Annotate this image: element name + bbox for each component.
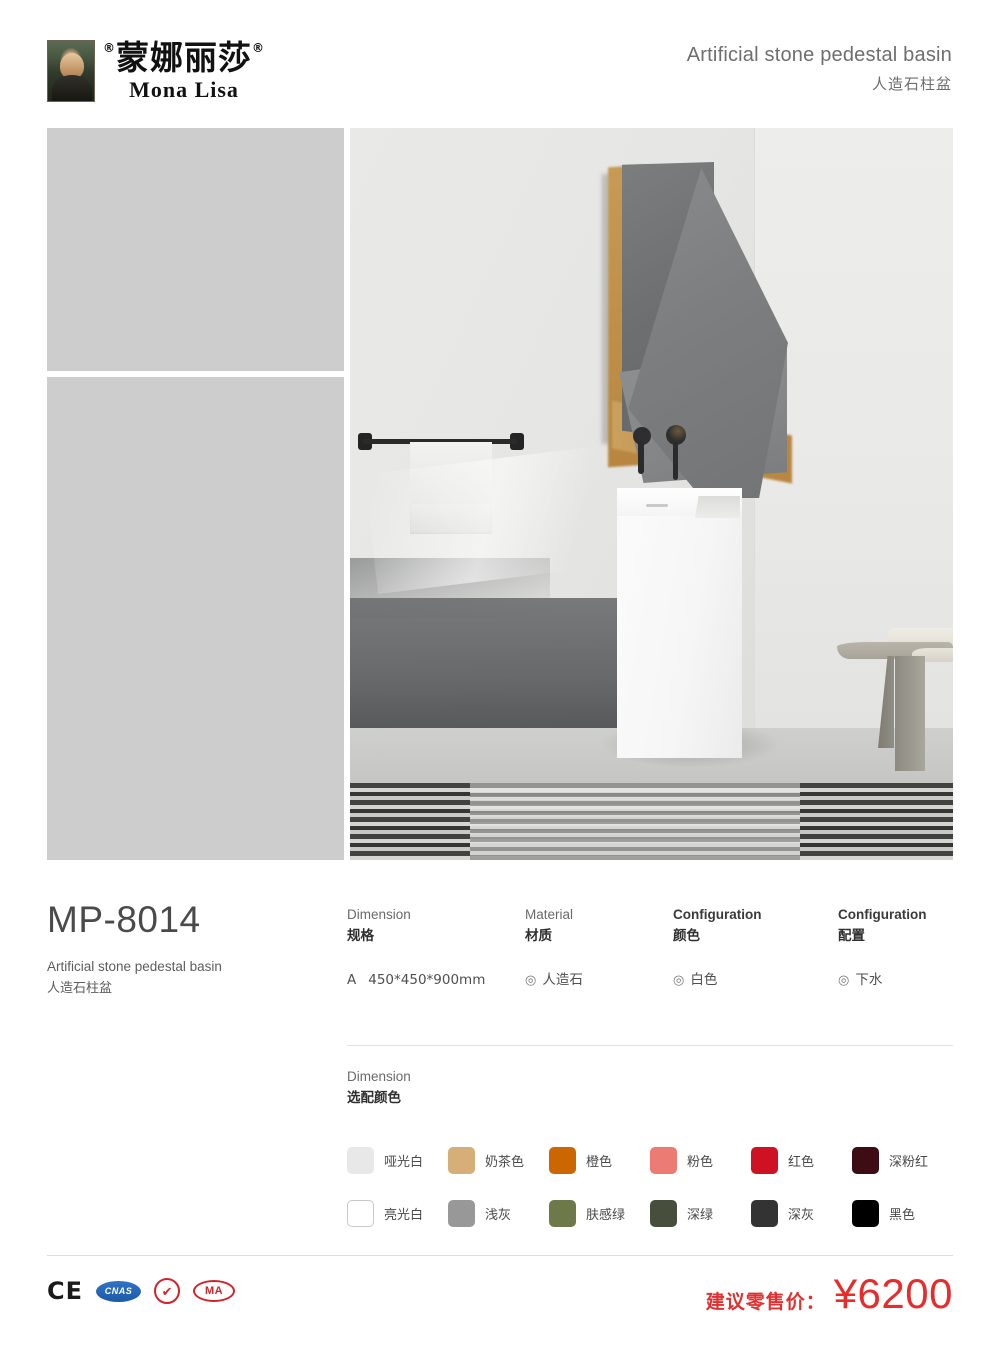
color-swatch-label: 橙色 xyxy=(586,1151,612,1170)
spec-value-color: ◎白色 xyxy=(673,971,761,990)
spec-column-material: Material 材质 ◎人造石 xyxy=(525,906,583,990)
spec-label-cn-dimension: 规格 xyxy=(347,927,485,946)
bullet-icon-material: ◎ xyxy=(525,973,536,988)
color-swatch-chip xyxy=(751,1147,778,1174)
cqc-badge-icon xyxy=(154,1278,180,1304)
color-swatch-chip xyxy=(549,1200,576,1227)
brand-name-cn-text: 蒙娜丽莎 xyxy=(116,38,252,77)
registered-mark-left: ® xyxy=(103,41,116,55)
brand-logo-text: ®蒙娜丽莎® Mona Lisa xyxy=(103,40,265,103)
hanging-towel xyxy=(410,442,492,534)
price-value: ¥6200 xyxy=(834,1270,953,1318)
color-swatch-红色[interactable]: 红色 xyxy=(751,1134,852,1187)
spec-columns: Dimension 规格 A450*450*900mm Material 材质 … xyxy=(347,906,953,1016)
cnas-badge-label: CNAS xyxy=(105,1286,133,1296)
color-swatch-label: 奶茶色 xyxy=(485,1151,524,1170)
hero-product-image[interactable] xyxy=(350,128,953,860)
bullet-icon-configuration: ◎ xyxy=(838,973,849,988)
color-swatch-label: 深灰 xyxy=(788,1204,814,1223)
product-name-en: Artificial stone pedestal basin xyxy=(47,958,317,976)
cnas-badge-icon: CNAS xyxy=(96,1281,141,1302)
color-swatch-奶茶色[interactable]: 奶茶色 xyxy=(448,1134,549,1187)
spec-label-en-configuration: Configuration xyxy=(838,906,926,924)
thumbnail-1[interactable] xyxy=(47,128,344,371)
pedestal-basin-body xyxy=(617,488,742,758)
spec-label-cn-material: 材质 xyxy=(525,927,583,946)
registered-mark-right: ® xyxy=(252,41,265,55)
spec-divider xyxy=(347,1045,953,1046)
thumbnail-list xyxy=(47,128,344,860)
faucet-handle-arm xyxy=(673,442,678,480)
spec-column-configuration: Configuration 配置 ◎下水 xyxy=(838,906,926,990)
color-swatch-label: 粉色 xyxy=(687,1151,713,1170)
color-swatch-橙色[interactable]: 橙色 xyxy=(549,1134,650,1187)
spec-label-cn-configuration: 配置 xyxy=(838,927,926,946)
color-swatch-label: 浅灰 xyxy=(485,1204,511,1223)
header-title-cn: 人造石柱盆 xyxy=(687,73,952,94)
color-swatch-label: 哑光白 xyxy=(384,1151,423,1170)
color-swatch-chip xyxy=(448,1200,475,1227)
bench-leg-front xyxy=(895,656,925,771)
spec-column-color: Configuration 颜色 ◎白色 xyxy=(673,906,761,990)
color-swatch-chip xyxy=(852,1200,879,1227)
color-options-label-cn: 选配颜色 xyxy=(347,1089,953,1108)
spec-column-dimension: Dimension 规格 A450*450*900mm xyxy=(347,906,485,990)
color-options-section: Dimension 选配颜色 哑光白奶茶色橙色粉色红色深粉红亮光白浅灰肤感绿深绿… xyxy=(347,1068,953,1240)
ma-badge-label: MA xyxy=(205,1285,223,1297)
color-swatch-chip xyxy=(852,1147,879,1174)
color-swatch-grid: 哑光白奶茶色橙色粉色红色深粉红亮光白浅灰肤感绿深绿深灰黑色 xyxy=(347,1134,953,1240)
mona-lisa-painting-icon xyxy=(47,40,95,102)
ma-badge-icon: MA xyxy=(193,1280,235,1302)
color-swatch-深绿[interactable]: 深绿 xyxy=(650,1187,751,1240)
color-swatch-label: 肤感绿 xyxy=(586,1204,625,1223)
product-identity: MP-8014 Artificial stone pedestal basin … xyxy=(47,898,317,998)
color-swatch-chip xyxy=(650,1200,677,1227)
spec-label-en-dimension: Dimension xyxy=(347,906,485,924)
color-swatch-亮光白[interactable]: 亮光白 xyxy=(347,1187,448,1240)
product-model: MP-8014 xyxy=(47,898,317,942)
color-swatch-哑光白[interactable]: 哑光白 xyxy=(347,1134,448,1187)
spec-label-en-material: Material xyxy=(525,906,583,924)
page-header: ®蒙娜丽莎® Mona Lisa Artificial stone pedest… xyxy=(0,0,1000,128)
product-name-cn: 人造石柱盆 xyxy=(47,980,317,998)
ce-mark-icon: CE xyxy=(47,1278,83,1304)
color-options-label-en: Dimension xyxy=(347,1068,953,1086)
faucet-spout-arm xyxy=(638,440,644,474)
color-swatch-深灰[interactable]: 深灰 xyxy=(751,1187,852,1240)
color-swatch-label: 深绿 xyxy=(687,1204,713,1223)
spec-value-dimension: A450*450*900mm xyxy=(347,971,485,990)
brand-name-cn: ®蒙娜丽莎® xyxy=(103,40,265,76)
color-swatch-label: 红色 xyxy=(788,1151,814,1170)
product-gallery xyxy=(47,128,953,860)
color-swatch-深粉红[interactable]: 深粉红 xyxy=(852,1134,953,1187)
color-swatch-浅灰[interactable]: 浅灰 xyxy=(448,1187,549,1240)
brand-logo[interactable]: ®蒙娜丽莎® Mona Lisa xyxy=(47,40,265,103)
color-swatch-chip xyxy=(448,1147,475,1174)
color-swatch-chip xyxy=(347,1147,374,1174)
spec-tag-dimension: A xyxy=(347,972,356,988)
price-label: 建议零售价： xyxy=(706,1287,826,1314)
page-footer: CE CNAS MA 建议零售价： ¥6200 xyxy=(47,1270,953,1322)
color-swatch-chip xyxy=(751,1200,778,1227)
spec-value-configuration: ◎下水 xyxy=(838,971,926,990)
color-swatch-chip xyxy=(549,1147,576,1174)
color-swatch-肤感绿[interactable]: 肤感绿 xyxy=(549,1187,650,1240)
certification-badges: CE CNAS MA xyxy=(47,1278,235,1304)
spec-value-text-configuration: 下水 xyxy=(855,972,882,988)
price-block: 建议零售价： ¥6200 xyxy=(706,1270,953,1318)
color-swatch-粉色[interactable]: 粉色 xyxy=(650,1134,751,1187)
spec-value-material: ◎人造石 xyxy=(525,971,583,990)
color-swatch-chip xyxy=(650,1147,677,1174)
color-swatch-label: 亮光白 xyxy=(384,1204,423,1223)
spec-value-text-color: 白色 xyxy=(690,972,717,988)
color-swatch-chip xyxy=(347,1200,374,1227)
brand-name-en: Mona Lisa xyxy=(103,77,265,103)
thumbnail-3[interactable] xyxy=(47,620,344,860)
pedestal-basin-bowl xyxy=(695,496,740,518)
footer-divider xyxy=(47,1255,953,1256)
header-title: Artificial stone pedestal basin 人造石柱盆 xyxy=(687,44,952,94)
scene-striped-rug-highlight xyxy=(470,783,800,860)
spec-value-text-dimension: 450*450*900mm xyxy=(368,972,485,988)
pedestal-basin-overflow-slot xyxy=(646,504,668,507)
color-swatch-label: 深粉红 xyxy=(889,1151,928,1170)
color-swatch-label: 黑色 xyxy=(889,1204,915,1223)
spec-label-cn-color: 颜色 xyxy=(673,927,761,946)
header-title-en: Artificial stone pedestal basin xyxy=(687,44,952,67)
spec-value-text-material: 人造石 xyxy=(542,972,583,988)
spec-label-en-color: Configuration xyxy=(673,906,761,924)
bullet-icon-color: ◎ xyxy=(673,973,684,988)
color-swatch-黑色[interactable]: 黑色 xyxy=(852,1187,953,1240)
